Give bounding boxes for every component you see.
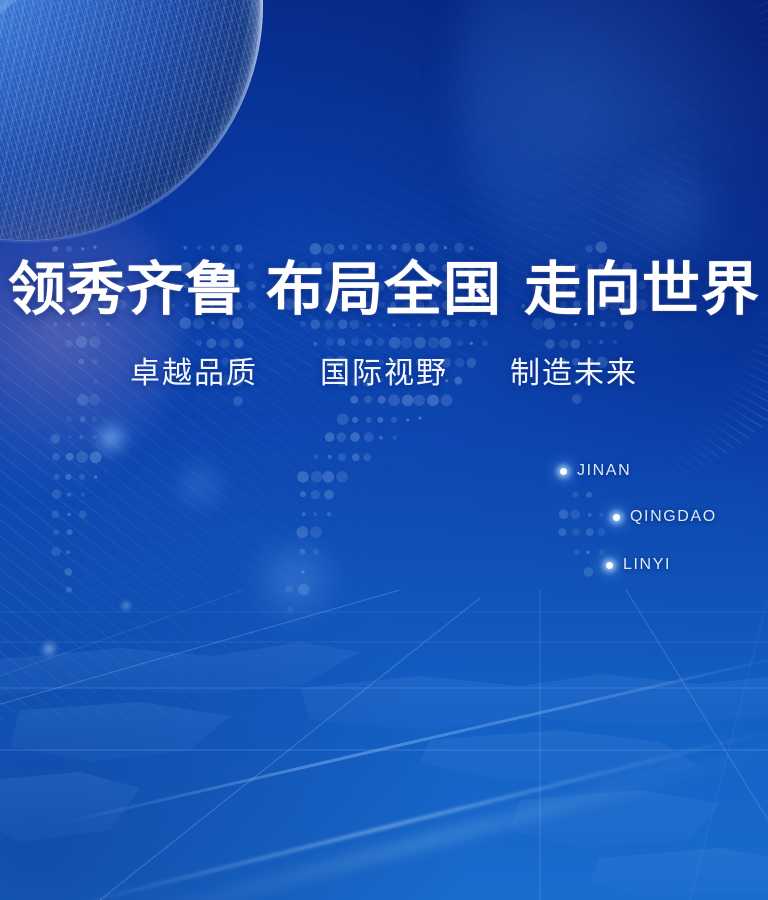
globe-rim-light [0,0,263,243]
globe-sphere [0,0,260,240]
location-dot-icon [560,468,567,475]
city-label: LINYI [623,556,671,574]
city-marker-linyi[interactable]: LINYI [606,556,671,574]
location-dot-icon [613,514,620,521]
city-marker-qingdao[interactable]: QINGDAO [613,508,717,526]
bokeh-orb [120,600,132,612]
bokeh-orb [165,455,235,515]
grid-verticals [540,590,768,900]
globe-atmosphere-glow [0,0,100,80]
banner-copy: 领秀齐鲁布局全国走向世界 卓越品质国际视野制造未来 [0,258,768,392]
background-vignette [0,0,768,900]
city-marker-jinan[interactable]: JINAN [560,462,631,480]
bokeh-orb [610,150,730,270]
light-beam-soft [99,727,768,900]
bokeh-orb [88,415,134,461]
perspective-grid-ground [0,590,768,900]
subline-part-3: 制造未来 [510,357,638,390]
grid-horizontals [0,612,768,750]
ground-continents [0,642,768,896]
bokeh-orb [40,640,58,658]
bokeh-orb [240,535,350,625]
globe-texture [0,0,260,240]
globe-graphic [0,0,260,240]
light-beam [60,723,768,900]
radiating-arc-lines-icon [288,0,768,490]
page-title: 领秀齐鲁布局全国走向世界 [0,258,768,322]
location-dot-icon [606,562,613,569]
headline-part-1: 领秀齐鲁 [8,257,244,322]
city-label: QINGDAO [630,508,717,526]
subline-part-1: 卓越品质 [130,357,258,390]
headline-part-2: 布局全国 [266,257,502,322]
hero-banner: 领秀齐鲁布局全国走向世界 卓越品质国际视野制造未来 JINAN QINGDAO … [0,0,768,900]
city-label: JINAN [577,462,631,480]
headline-part-3: 走向世界 [524,257,760,322]
city-marker-list: JINAN QINGDAO LINYI [0,0,768,900]
subline-part-2: 国际视野 [320,357,448,390]
page-subtitle: 卓越品质国际视野制造未来 [0,348,768,392]
grid-diagonals [0,590,768,900]
